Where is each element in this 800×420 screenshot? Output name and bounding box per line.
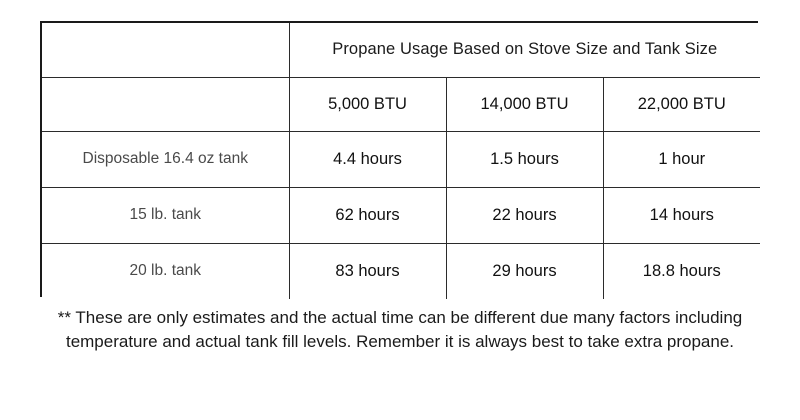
column-header-5000btu: 5,000 BTU: [289, 77, 446, 131]
table-row: Disposable 16.4 oz tank 4.4 hours 1.5 ho…: [42, 131, 760, 187]
table-title-cell: Propane Usage Based on Stove Size and Ta…: [289, 23, 760, 77]
page-title: Propane Usage Based on Stove Size and Ta…: [332, 40, 717, 59]
cell-disposable-22000btu: 1 hour: [603, 131, 760, 187]
footnote-text: ** These are only estimates and the actu…: [34, 306, 766, 354]
table-header-row: 5,000 BTU 14,000 BTU 22,000 BTU: [42, 77, 760, 131]
cell-15lb-14000btu: 22 hours: [446, 187, 603, 243]
table-row: 20 lb. tank 83 hours 29 hours 18.8 hours: [42, 243, 760, 299]
cell-20lb-5000btu: 83 hours: [289, 243, 446, 299]
table-row: 15 lb. tank 62 hours 22 hours 14 hours: [42, 187, 760, 243]
infographic-page: Propane Usage Based on Stove Size and Ta…: [0, 0, 800, 420]
row-label-20lb-tank: 20 lb. tank: [42, 243, 289, 299]
column-header-22000btu: 22,000 BTU: [603, 77, 760, 131]
cell-15lb-22000btu: 14 hours: [603, 187, 760, 243]
table-title-row: Propane Usage Based on Stove Size and Ta…: [42, 23, 760, 77]
propane-usage-table-container: Propane Usage Based on Stove Size and Ta…: [40, 21, 758, 297]
column-header-14000btu: 14,000 BTU: [446, 77, 603, 131]
header-row-corner: [42, 77, 289, 131]
cell-15lb-5000btu: 62 hours: [289, 187, 446, 243]
table-corner-cell: [42, 23, 289, 77]
cell-20lb-22000btu: 18.8 hours: [603, 243, 760, 299]
propane-usage-table: Propane Usage Based on Stove Size and Ta…: [42, 23, 760, 299]
cell-disposable-14000btu: 1.5 hours: [446, 131, 603, 187]
row-label-disposable-tank: Disposable 16.4 oz tank: [42, 131, 289, 187]
cell-disposable-5000btu: 4.4 hours: [289, 131, 446, 187]
row-label-15lb-tank: 15 lb. tank: [42, 187, 289, 243]
cell-20lb-14000btu: 29 hours: [446, 243, 603, 299]
